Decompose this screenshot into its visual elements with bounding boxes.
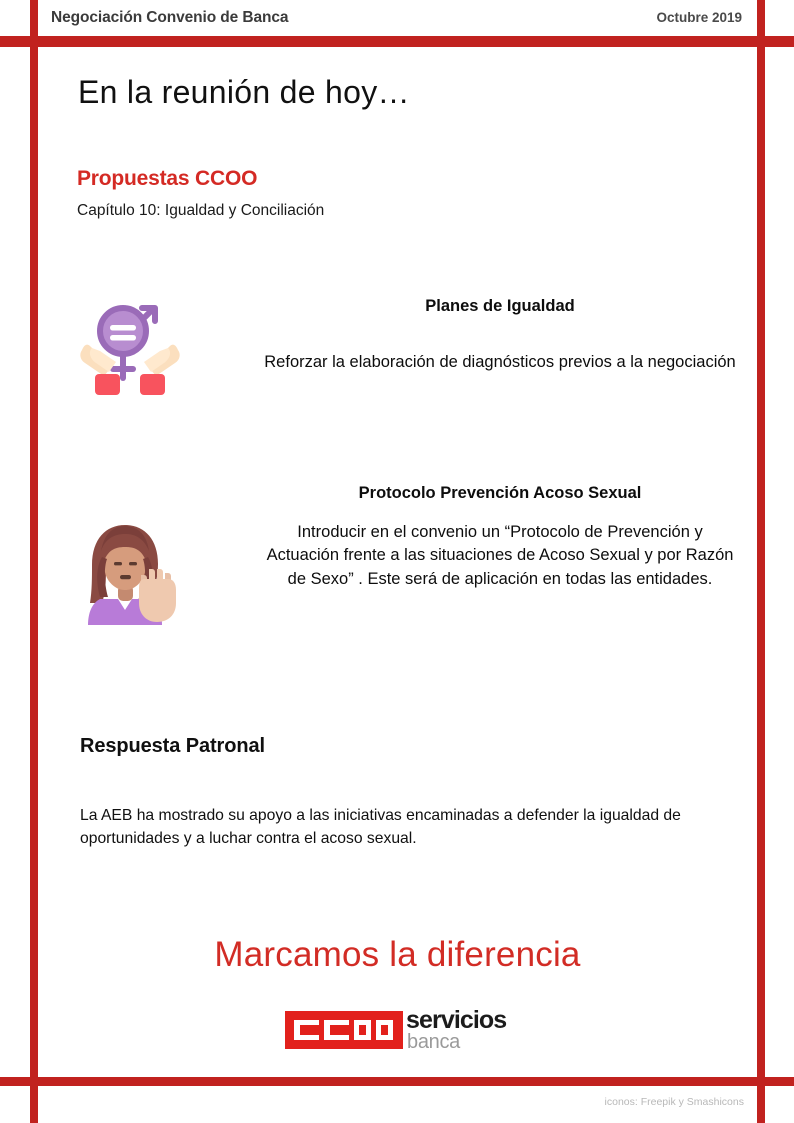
frame-bar-bottom (0, 1077, 794, 1086)
proposal-heading: Protocolo Prevención Acoso Sexual (260, 484, 740, 504)
header-date: Octubre 2019 (656, 10, 742, 25)
employer-response-body: La AEB ha mostrado su apoyo a las inicia… (80, 804, 710, 850)
ccoo-servicios-banca-logo: servicios banca (285, 1008, 523, 1054)
page-header: Negociación Convenio de Banca Octubre 20… (0, 0, 794, 36)
ccoo-logo-mark-icon (285, 1011, 403, 1049)
slide-content: En la reunión de hoy… Propuestas CCOO Ca… (38, 47, 757, 1077)
gender-equality-hands-icon (76, 290, 184, 398)
page-title: En la reunión de hoy… (78, 74, 410, 111)
logo-text-servicios: servicios (406, 1008, 506, 1033)
woman-raised-hand-stop-icon (78, 517, 182, 625)
proposal-text-acoso: Protocolo Prevención Acoso Sexual Introd… (260, 484, 740, 591)
proposal-body: Reforzar la elaboración de diagnósticos … (260, 351, 740, 374)
proposal-text-igualdad: Planes de Igualdad Reforzar la elaboraci… (260, 297, 740, 374)
frame-line-right (757, 0, 765, 1123)
section-label-propuestas: Propuestas CCOO (77, 167, 257, 191)
proposal-body: Introducir en el convenio un “Protocolo … (260, 521, 740, 591)
employer-response-heading: Respuesta Patronal (80, 735, 265, 758)
slogan: Marcamos la diferencia (38, 935, 757, 975)
frame-bar-top (0, 36, 794, 47)
icon-credits: iconos: Freepik y Smashicons (605, 1096, 744, 1108)
section-subtitle-capitulo: Capítulo 10: Igualdad y Conciliación (77, 202, 324, 220)
proposal-heading: Planes de Igualdad (260, 297, 740, 317)
header-title: Negociación Convenio de Banca (51, 9, 288, 27)
frame-line-left (30, 0, 38, 1123)
logo-text-banca: banca (407, 1032, 460, 1052)
